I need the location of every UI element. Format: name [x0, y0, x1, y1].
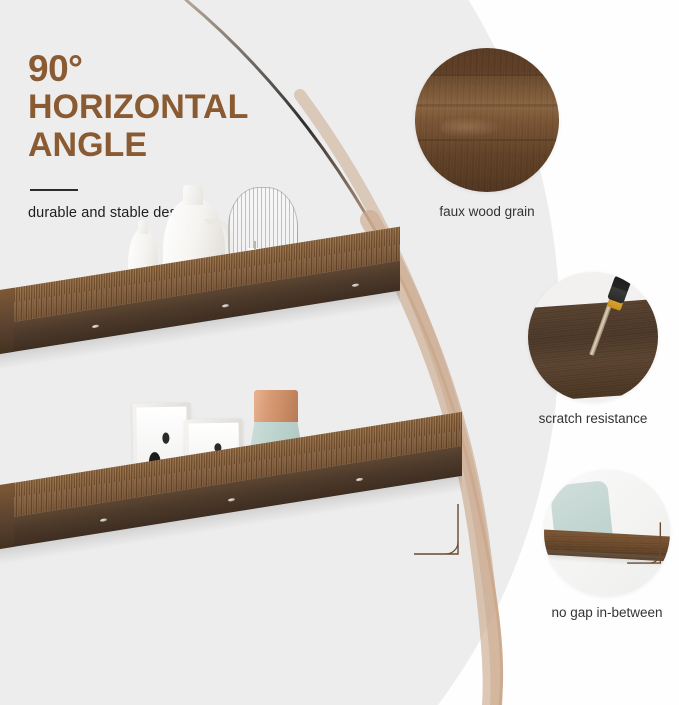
- upper-shelf-photo: [0, 290, 400, 440]
- callout-caption: no gap in-between: [535, 605, 679, 620]
- vase-copper-neck: [254, 390, 298, 422]
- grain-band: [415, 104, 559, 107]
- lower-shelf-photo: [0, 485, 462, 635]
- headline-line-3: ANGLE: [28, 126, 358, 165]
- callout-caption: faux wood grain: [412, 204, 562, 219]
- wood-knot: [441, 111, 525, 143]
- callout-scratch-resistance[interactable]: scratch resistance: [517, 272, 669, 426]
- shelf-left-end-cap: [0, 483, 14, 549]
- wood-grain-texture: [415, 48, 559, 192]
- screwdriver-scratch-circle-icon: [528, 272, 658, 402]
- callout-faux-wood-grain[interactable]: faux wood grain: [412, 48, 562, 219]
- callout-no-gap-in-between[interactable]: no gap in-between: [535, 470, 679, 620]
- grain-band: [415, 74, 559, 76]
- shelf-wall-gap-circle-icon: [544, 470, 670, 596]
- infographic-canvas: 90° HORIZONTAL ANGLE durable and stable …: [0, 0, 679, 705]
- wood-swatch-circle-icon: [415, 48, 559, 192]
- 90-degree-angle-indicator-icon: [625, 518, 668, 576]
- shelf-left-end-cap: [0, 288, 14, 354]
- 90-degree-angle-indicator-icon: [412, 500, 468, 562]
- headline-line-2: HORIZONTAL: [28, 88, 358, 127]
- headline-divider-rule: [30, 189, 78, 191]
- headline-degree: 90°: [28, 50, 358, 88]
- callout-caption: scratch resistance: [517, 411, 669, 426]
